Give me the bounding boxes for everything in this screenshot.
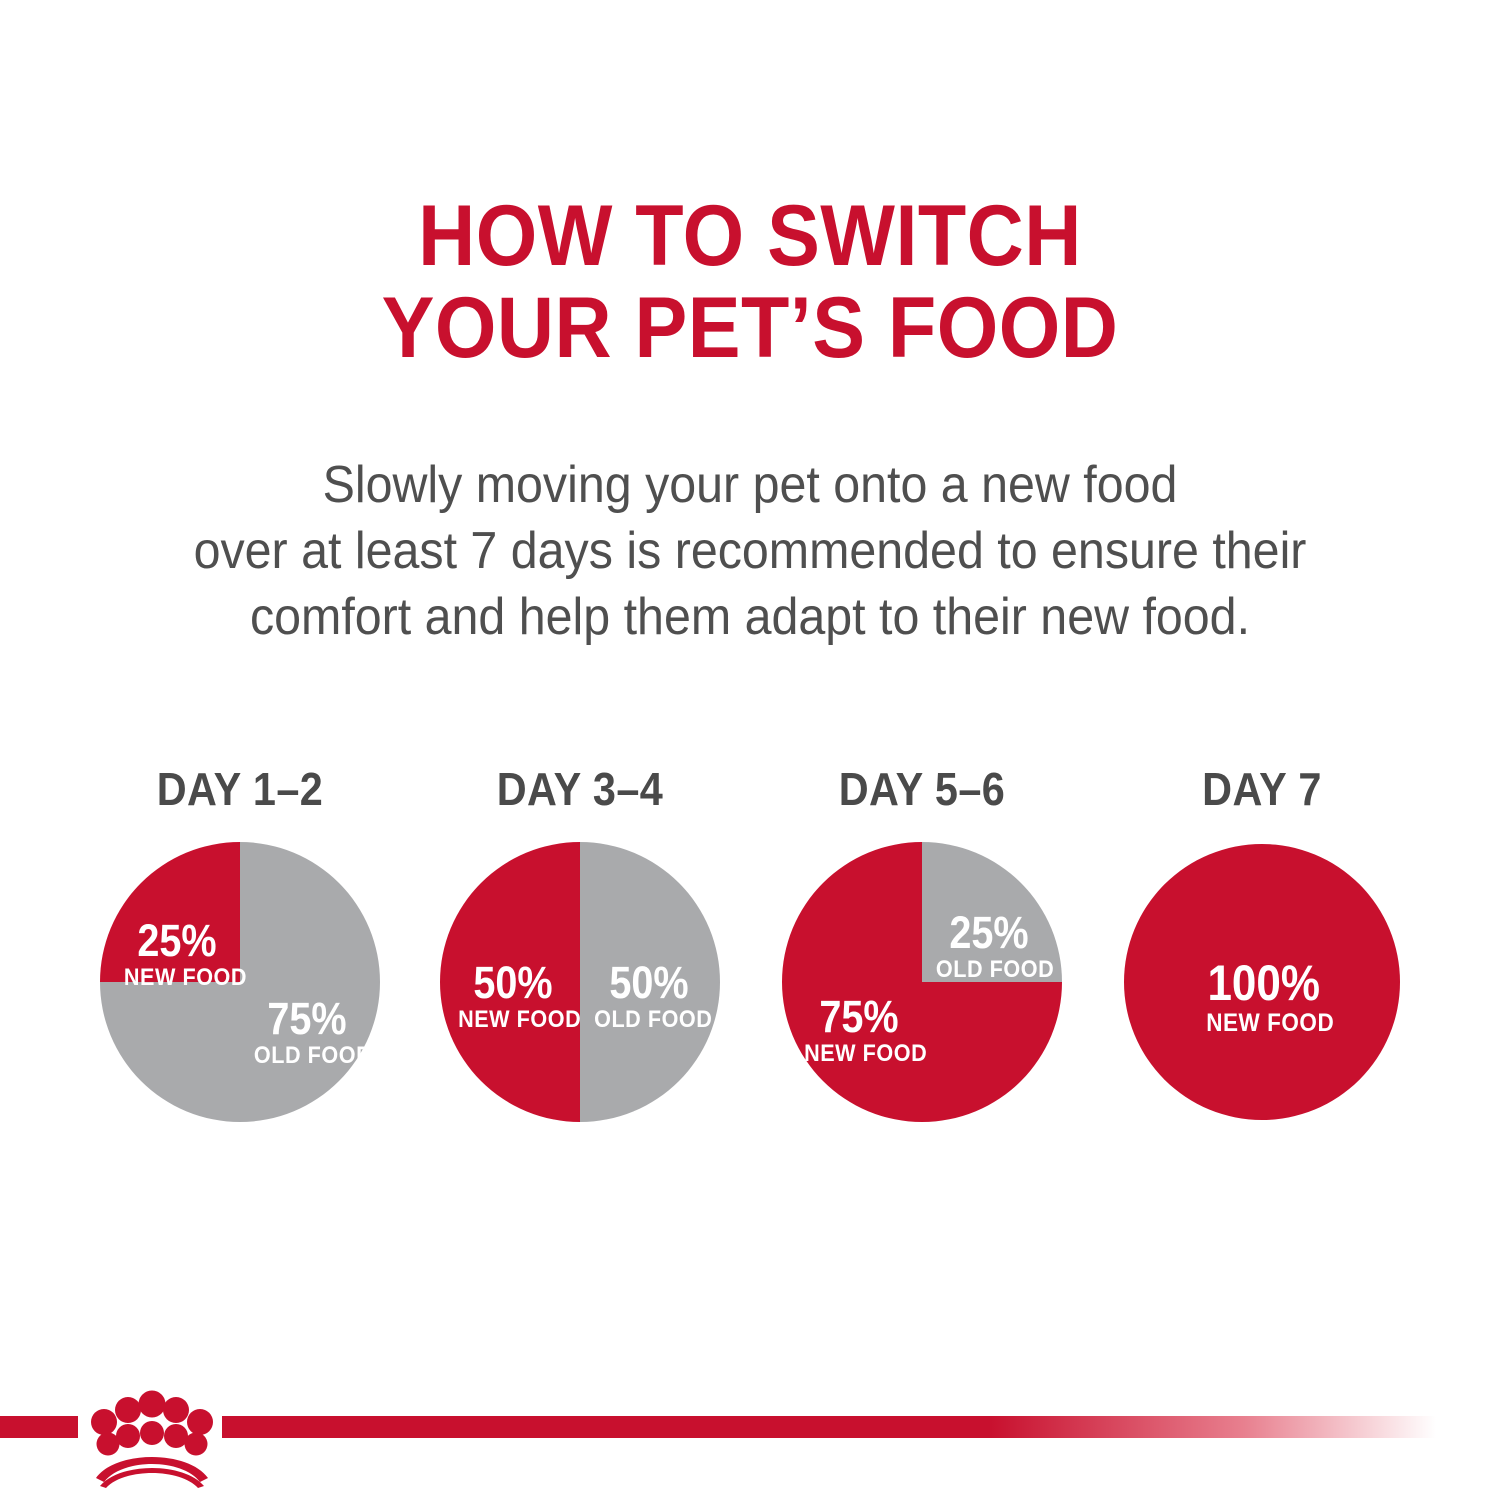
day-label-3: DAY 5–6 [787, 764, 1057, 814]
pie-group-day-5-6: DAY 5–6 25% OLD FOOD 75% NEW FOOD [772, 764, 1072, 1184]
intro-line-3: comfort and help them adapt to their new… [53, 584, 1448, 650]
day-label-2: DAY 3–4 [445, 764, 715, 814]
page-title-line-1: HOW TO SWITCH [60, 190, 1440, 282]
page-title: HOW TO SWITCH YOUR PET’S FOOD [60, 190, 1440, 374]
royal-canin-crown-icon [82, 1378, 222, 1488]
pie-chart-day-5-6: 25% OLD FOOD 75% NEW FOOD [782, 842, 1062, 1122]
pie-slice-old-food [922, 842, 1062, 982]
pie-group-day-1-2: DAY 1–2 25% NEW FOOD 75% OLD FOOD [90, 764, 390, 1184]
intro-paragraph: Slowly moving your pet onto a new food o… [53, 452, 1448, 650]
pie-chart-day-3-4: 50% NEW FOOD 50% OLD FOOD [440, 842, 720, 1122]
intro-line-2: over at least 7 days is recommended to e… [53, 518, 1448, 584]
page-title-line-2: YOUR PET’S FOOD [60, 282, 1440, 374]
pie-group-day-7: DAY 7 100% NEW FOOD [1112, 764, 1412, 1184]
pie-group-day-3-4: DAY 3–4 50% NEW FOOD 50% OLD FOOD [430, 764, 730, 1184]
day-label-1: DAY 1–2 [105, 764, 375, 814]
footer-rule-right [222, 1416, 1500, 1438]
day-label-4: DAY 7 [1127, 764, 1397, 814]
infographic-page: HOW TO SWITCH YOUR PET’S FOOD Slowly mov… [0, 0, 1500, 1500]
pie-slice-new-food [100, 842, 240, 982]
pie-slice-new-food [1124, 844, 1400, 1120]
pie-chart-row: DAY 1–2 25% NEW FOOD 75% OLD FOOD [0, 764, 1500, 1184]
pie-slice-new-food [440, 842, 580, 1122]
intro-line-1: Slowly moving your pet onto a new food [53, 452, 1448, 518]
pie-chart-day-7: 100% NEW FOOD [1122, 842, 1402, 1122]
pie-chart-day-1-2: 25% NEW FOOD 75% OLD FOOD [100, 842, 380, 1122]
pie-slice-old-food [580, 842, 720, 1122]
footer-brand-bar [0, 1400, 1500, 1500]
footer-rule-left [0, 1416, 78, 1438]
